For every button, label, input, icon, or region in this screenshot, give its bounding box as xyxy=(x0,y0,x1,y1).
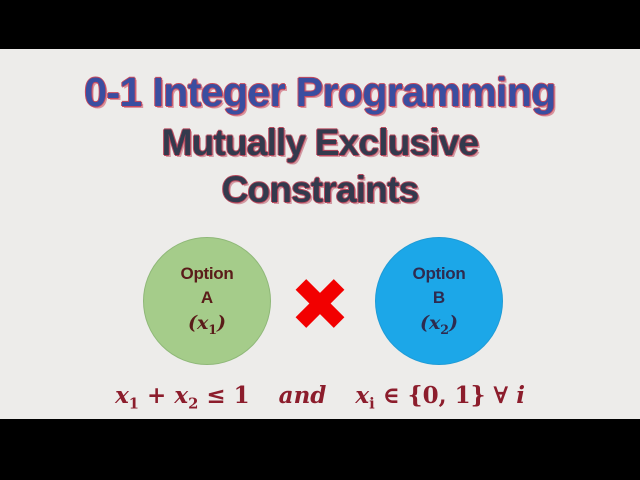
letterbox-top xyxy=(0,0,640,49)
mutual-exclusion-x-icon xyxy=(296,279,344,327)
formula-term-2: x2 xyxy=(174,382,198,409)
formula-plus: + xyxy=(147,382,166,409)
formula-relation: ≤ xyxy=(206,382,225,409)
slide-container: 0-1 Integer Programming Mutually Exclusi… xyxy=(0,0,640,480)
option-b-variable: (x2) xyxy=(420,313,458,336)
letterbox-bottom xyxy=(0,419,640,480)
subtitle-line-2: Constraints xyxy=(0,166,640,213)
formula-domain: {0, 1} xyxy=(408,382,486,409)
option-b-letter: B xyxy=(433,289,445,307)
formula-rhs: 1 xyxy=(234,382,250,409)
option-a-word: Option xyxy=(181,265,234,283)
page-title: 0-1 Integer Programming xyxy=(0,69,640,116)
slide-canvas: 0-1 Integer Programming Mutually Exclusi… xyxy=(0,49,640,419)
formula-index: i xyxy=(516,382,525,409)
formula-term-1: x1 xyxy=(115,382,139,409)
formula-term-3: xi xyxy=(355,382,374,409)
formula-conjunction: and xyxy=(273,382,333,409)
constraint-formula: x1 + x2 ≤ 1 and xi ∈ {0, 1} ∀ i xyxy=(0,382,640,413)
formula-member: ∈ xyxy=(383,382,400,409)
option-b-word: Option xyxy=(413,265,466,283)
subtitle-line-1: Mutually Exclusive xyxy=(0,119,640,166)
option-b-circle[interactable]: Option B (x2) xyxy=(375,237,503,365)
option-a-variable: (x1) xyxy=(188,313,226,336)
option-a-letter: A xyxy=(201,289,213,307)
option-a-circle[interactable]: Option A (x1) xyxy=(143,237,271,365)
page-subtitle: Mutually Exclusive Constraints xyxy=(0,119,640,213)
options-diagram: Option A (x1) Option B (x2) xyxy=(0,237,640,367)
formula-quantifier: ∀ xyxy=(493,382,508,409)
